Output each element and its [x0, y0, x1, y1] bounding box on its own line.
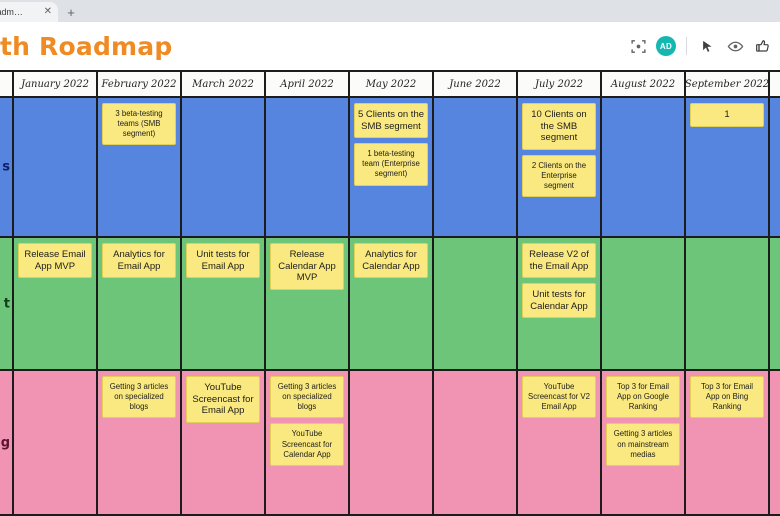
board-cell[interactable]	[434, 371, 518, 514]
task-card[interactable]: Getting 3 articles on specialized blogs	[270, 376, 344, 418]
board-cell[interactable]	[14, 371, 98, 514]
column-header: March 2022	[182, 72, 266, 96]
board-cell[interactable]: Release Calendar App MVP	[266, 238, 350, 369]
swimlanes: s3 beta-testing teams (SMB segment)5 Cli…	[0, 98, 780, 516]
eye-icon[interactable]	[722, 33, 748, 59]
board-cell[interactable]: Getting 3 articles on specialized blogs	[98, 371, 182, 514]
board-cell[interactable]: YouTube Screencast for Email App	[182, 371, 266, 514]
task-card[interactable]: Getting 3 articles on specialized blogs	[102, 376, 176, 418]
board-cell[interactable]: 5 Clients on the SMB segment1 beta-testi…	[350, 98, 434, 236]
task-card[interactable]: 10 Clients on the SMB segment	[522, 103, 596, 150]
browser-tab[interactable]: h Roadm… ✕	[0, 2, 58, 22]
board-cell[interactable]	[602, 98, 686, 236]
board-cell[interactable]: 1	[686, 98, 770, 236]
task-card[interactable]: Analytics for Email App	[102, 243, 176, 278]
swimlane-label-text: t	[4, 296, 10, 311]
board-cell[interactable]: YouTube Screencast for V2 Email App	[518, 371, 602, 514]
cursor-icon[interactable]	[694, 33, 720, 59]
avatar-initials: AD	[656, 36, 676, 56]
browser-tab-strip: h Roadm… ✕ +	[0, 0, 780, 22]
task-card[interactable]: YouTube Screencast for Calendar App	[270, 423, 344, 465]
column-header: September 2022	[686, 72, 770, 96]
task-card[interactable]: 2 Clients on the Enterprise segment	[522, 155, 596, 197]
column-header: June 2022	[434, 72, 518, 96]
column-header: April 2022	[266, 72, 350, 96]
task-card[interactable]: Analytics for Calendar App	[354, 243, 428, 278]
board-cell[interactable]	[350, 371, 434, 514]
swimlane-label: s	[0, 98, 14, 236]
board-cell[interactable]: Top 3 for Email App on Google RankingGet…	[602, 371, 686, 514]
close-icon[interactable]: ✕	[42, 7, 54, 17]
task-card[interactable]: YouTube Screencast for V2 Email App	[522, 376, 596, 418]
board-cell[interactable]: Top 3 for Email App on Bing Ranking	[686, 371, 770, 514]
board-cell[interactable]	[434, 98, 518, 236]
board-cell[interactable]: Release V2 of the Email AppUnit tests fo…	[518, 238, 602, 369]
header-gutter	[0, 72, 14, 96]
thumbs-up-icon[interactable]	[750, 33, 776, 59]
swimlane-label: t	[0, 238, 14, 369]
board-cell[interactable]: Analytics for Email App	[98, 238, 182, 369]
column-header: February 2022	[98, 72, 182, 96]
column-header: August 2022	[602, 72, 686, 96]
task-card[interactable]: Top 3 for Email App on Google Ranking	[606, 376, 680, 418]
toolbar-divider	[686, 37, 687, 55]
page-title: nth Roadmap	[0, 32, 172, 61]
app-toolbar: nth Roadmap AD	[0, 22, 780, 70]
task-card[interactable]: Unit tests for Email App	[186, 243, 260, 278]
roadmap-board: January 2022 February 2022 March 2022 Ap…	[0, 70, 780, 516]
frame-icon[interactable]	[625, 33, 651, 59]
board-cell[interactable]	[266, 98, 350, 236]
board-cell[interactable]: Analytics for Calendar App	[350, 238, 434, 369]
task-card[interactable]: Release V2 of the Email App	[522, 243, 596, 278]
board-header-row: January 2022 February 2022 March 2022 Ap…	[0, 70, 780, 98]
board-cell[interactable]	[686, 238, 770, 369]
board-cell[interactable]: 10 Clients on the SMB segment2 Clients o…	[518, 98, 602, 236]
task-card[interactable]: 1 beta-testing team (Enterprise segment)	[354, 143, 428, 185]
task-card[interactable]: 5 Clients on the SMB segment	[354, 103, 428, 138]
task-card[interactable]: 3 beta-testing teams (SMB segment)	[102, 103, 176, 145]
board-cell[interactable]: Unit tests for Email App	[182, 238, 266, 369]
browser-tab-title: h Roadm…	[0, 7, 42, 17]
swimlane: tRelease Email App MVPAnalytics for Emai…	[0, 238, 780, 371]
board-cell[interactable]	[434, 238, 518, 369]
board-cell[interactable]: Getting 3 articles on specialized blogsY…	[266, 371, 350, 514]
task-card[interactable]: Release Email App MVP	[18, 243, 92, 278]
task-card[interactable]: Release Calendar App MVP	[270, 243, 344, 290]
swimlane-label: g	[0, 371, 14, 514]
swimlane: s3 beta-testing teams (SMB segment)5 Cli…	[0, 98, 780, 238]
board-cell[interactable]	[602, 238, 686, 369]
avatar[interactable]: AD	[653, 33, 679, 59]
swimlane: gGetting 3 articles on specialized blogs…	[0, 371, 780, 516]
swimlane-label-text: s	[2, 160, 10, 175]
board-cell[interactable]: 3 beta-testing teams (SMB segment)	[98, 98, 182, 236]
board-cell[interactable]	[14, 98, 98, 236]
swimlane-label-text: g	[1, 435, 10, 450]
toolbar-actions: AD	[625, 22, 776, 70]
column-header: January 2022	[14, 72, 98, 96]
board-cell[interactable]: Release Email App MVP	[14, 238, 98, 369]
column-header: May 2022	[350, 72, 434, 96]
board-cell[interactable]	[182, 98, 266, 236]
task-card[interactable]: Unit tests for Calendar App	[522, 283, 596, 318]
column-header: July 2022	[518, 72, 602, 96]
task-card[interactable]: 1	[690, 103, 764, 127]
task-card[interactable]: Top 3 for Email App on Bing Ranking	[690, 376, 764, 418]
task-card[interactable]: YouTube Screencast for Email App	[186, 376, 260, 423]
new-tab-button[interactable]: +	[58, 2, 84, 22]
task-card[interactable]: Getting 3 articles on mainstream medias	[606, 423, 680, 465]
